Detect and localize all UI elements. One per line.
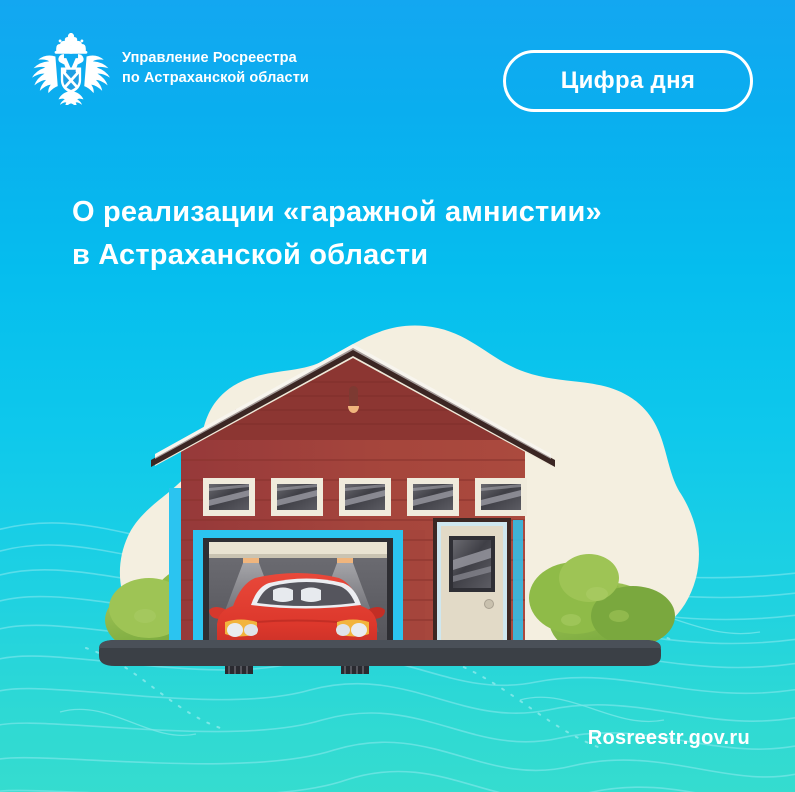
window	[271, 478, 323, 516]
page-title-line2: в Астраханской области	[72, 235, 712, 276]
rosreestr-eagle-icon	[32, 33, 110, 105]
window	[339, 478, 391, 516]
figure-of-the-day-badge[interactable]: Цифра дня	[503, 50, 753, 112]
page-title-line1: О реализации «гаражной амнистии»	[72, 192, 712, 233]
poster-canvas: Управление Росреестра по Астраханской об…	[0, 0, 795, 792]
accent-stripe-right	[513, 520, 523, 640]
window-row	[203, 478, 527, 516]
window	[203, 478, 255, 516]
accent-stripe-left	[169, 488, 181, 640]
organization-name-line2: по Астраханской области	[122, 69, 309, 89]
page-title: О реализации «гаражной амнистии» в Астра…	[72, 192, 712, 276]
footer-website-url[interactable]: Rosreestr.gov.ru	[588, 727, 750, 750]
ground-strip	[99, 640, 661, 666]
garage-illustration	[85, 320, 710, 690]
window	[407, 478, 459, 516]
entrance-door	[433, 518, 511, 644]
wall-column	[403, 530, 425, 642]
organization-name-line1: Управление Росреестра	[122, 49, 309, 69]
organization-name: Управление Росреестра по Астраханской об…	[122, 49, 309, 88]
gable-lamp	[348, 386, 359, 413]
window	[475, 478, 527, 516]
badge-label: Цифра дня	[561, 67, 695, 95]
